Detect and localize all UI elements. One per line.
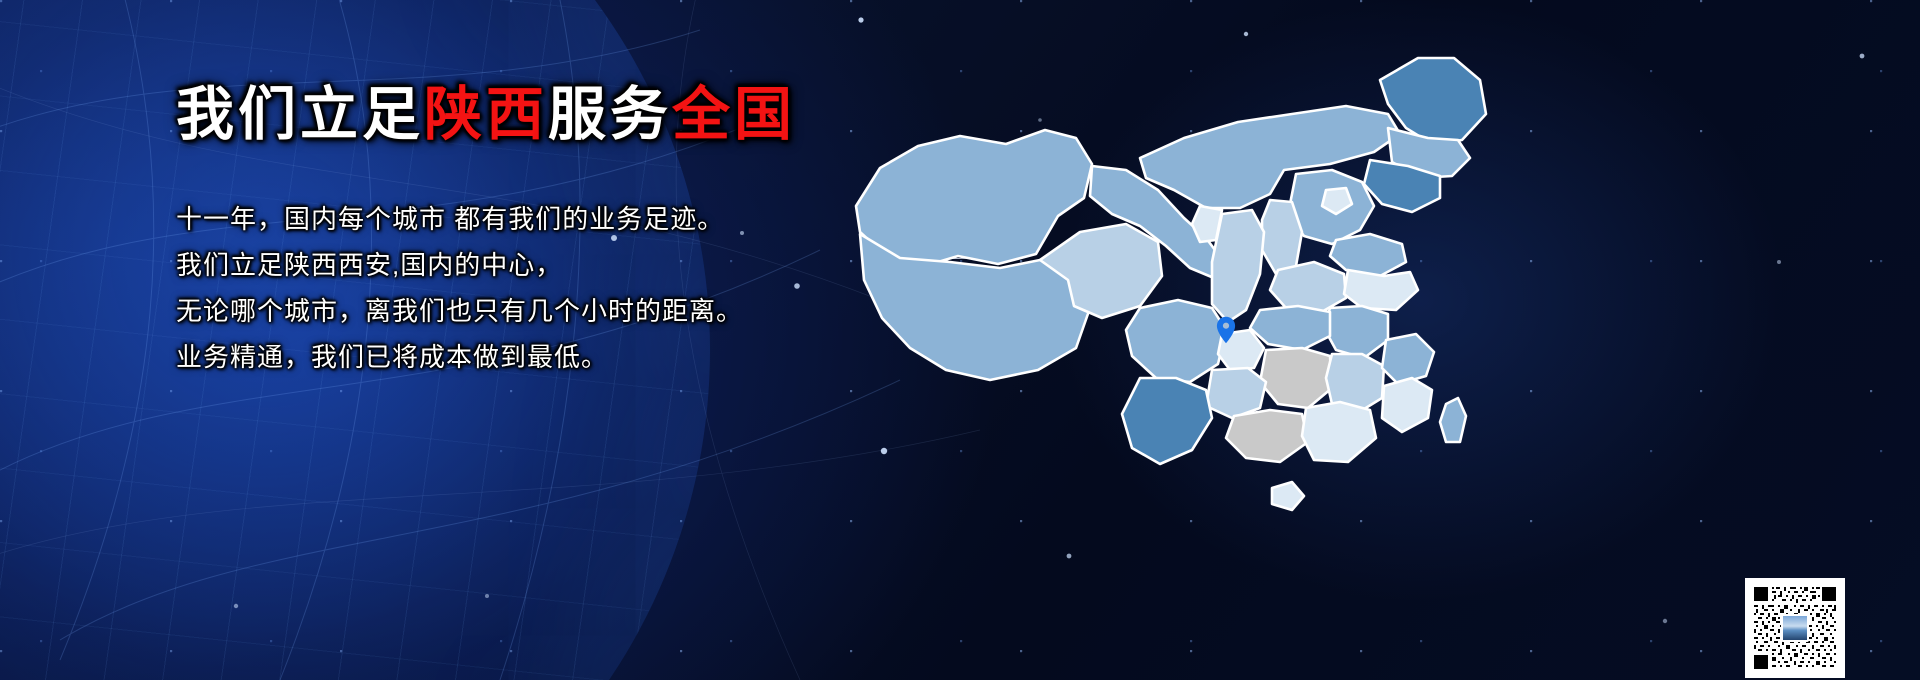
map-region-taiwan xyxy=(1440,398,1466,442)
china-map xyxy=(840,18,1540,578)
headline-segment-2-highlight: 陕西 xyxy=(424,82,548,147)
body-line-3: 无论哪个城市，离我们也只有几个小时的距离。 xyxy=(176,288,743,334)
body-line-4: 业务精通，我们已将成本做到最低。 xyxy=(176,334,743,380)
headline-segment-3: 服务 xyxy=(548,82,672,147)
qr-center-logo xyxy=(1781,614,1809,642)
map-region-fujian xyxy=(1382,378,1432,432)
map-region-henan xyxy=(1270,262,1346,314)
map-region-jiangsu xyxy=(1344,270,1418,310)
map-region-hainan xyxy=(1272,482,1304,510)
headline-segment-1: 我们立足 xyxy=(176,82,424,147)
map-region-anhui xyxy=(1324,306,1388,358)
map-region-hunan xyxy=(1260,348,1332,408)
map-region-yunnan xyxy=(1122,378,1212,464)
qr-code[interactable] xyxy=(1745,578,1845,678)
page-title: 我们立足陕西服务全国 xyxy=(176,84,796,145)
map-region-guizhou xyxy=(1206,368,1266,418)
headline-segment-4-highlight: 全国 xyxy=(672,82,796,147)
hero-banner: 我们立足陕西服务全国 十一年，国内每个城市 都有我们的业务足迹。 我们立足陕西西… xyxy=(0,0,1920,680)
body-line-2: 我们立足陕西西安,国内的中心， xyxy=(176,242,743,288)
map-region-shandong xyxy=(1330,234,1406,276)
body-copy: 十一年，国内每个城市 都有我们的业务足迹。 我们立足陕西西安,国内的中心， 无论… xyxy=(176,196,743,380)
map-region-zhejiang xyxy=(1382,334,1434,384)
body-line-1: 十一年，国内每个城市 都有我们的业务足迹。 xyxy=(176,196,743,242)
map-region-ningxia xyxy=(1192,206,1222,242)
location-pin-icon xyxy=(1216,316,1236,344)
map-region-guangdong xyxy=(1302,402,1376,462)
text-column: 我们立足陕西服务全国 十一年，国内每个城市 都有我们的业务足迹。 我们立足陕西西… xyxy=(0,0,900,680)
map-region-guangxi xyxy=(1226,410,1308,462)
map-region-shanxi xyxy=(1262,200,1302,274)
